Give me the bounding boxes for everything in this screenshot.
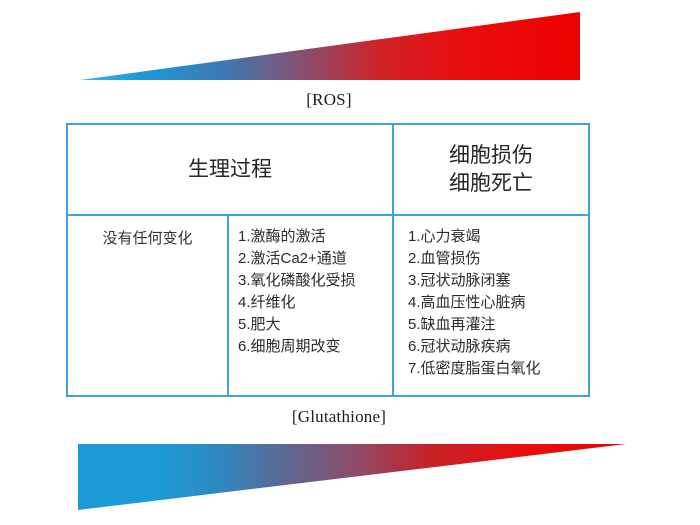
cell-physiological-processes: 1.激酶的激活 2.激活Ca2+通道 3.氧化磷酸化受损 4.纤维化 5.肥大 … [227, 216, 392, 395]
list-item: 7.低密度脂蛋白氧化 [408, 358, 541, 380]
list-item: 2.激活Ca2+通道 [238, 248, 356, 270]
list-item: 6.细胞周期改变 [238, 336, 356, 358]
list-item: 3.氧化磷酸化受损 [238, 270, 356, 292]
glutathione-axis-label-text: [Glutathione] [292, 407, 386, 427]
list-item: 2.血管损伤 [408, 248, 541, 270]
header-physiological-label: 生理过程 [188, 156, 272, 183]
header-cell-damage-label: 细胞损伤 细胞死亡 [449, 142, 533, 197]
glutathione-axis-label: [Glutathione] [0, 407, 700, 427]
glutathione-gradient-wedge [78, 442, 626, 512]
physiological-process-list: 1.激酶的激活 2.激活Ca2+通道 3.氧化磷酸化受损 4.纤维化 5.肥大 … [238, 226, 356, 358]
cell-damage-list: 1.心力衰竭 2.血管损伤 3.冠状动脉闭塞 4.高血压性心脏病 5.缺血再灌注… [408, 226, 541, 380]
ros-gradient-wedge [80, 12, 580, 84]
list-item: 6.冠状动脉疾病 [408, 336, 541, 358]
no-change-text: 没有任何变化 [102, 229, 192, 249]
matrix-header-row: 生理过程 细胞损伤 细胞死亡 [68, 125, 588, 214]
ros-axis-label-text: [ROS] [306, 90, 351, 110]
outcome-matrix-table: 生理过程 细胞损伤 细胞死亡 没有任何变化 1.激酶的激活 2.激活Ca2+通道… [66, 123, 590, 397]
ros-axis-label: [ROS] [0, 90, 700, 110]
matrix-body-row: 没有任何变化 1.激酶的激活 2.激活Ca2+通道 3.氧化磷酸化受损 4.纤维… [68, 214, 588, 395]
list-item: 1.心力衰竭 [408, 226, 541, 248]
list-item: 3.冠状动脉闭塞 [408, 270, 541, 292]
list-item: 5.缺血再灌注 [408, 314, 541, 336]
header-cell-cell-damage: 细胞损伤 细胞死亡 [392, 125, 588, 214]
list-item: 4.高血压性心脏病 [408, 292, 541, 314]
figure-canvas: [ROS] 生理过程 细胞损伤 细胞死亡 没有任何变化 1.激酶的激活 2.激活… [0, 0, 700, 525]
cell-no-change: 没有任何变化 [68, 216, 227, 395]
header-cell-physiological: 生理过程 [68, 125, 392, 214]
list-item: 4.纤维化 [238, 292, 356, 314]
cell-cell-damage-death: 1.心力衰竭 2.血管损伤 3.冠状动脉闭塞 4.高血压性心脏病 5.缺血再灌注… [392, 216, 588, 395]
list-item: 1.激酶的激活 [238, 226, 356, 248]
list-item: 5.肥大 [238, 314, 356, 336]
